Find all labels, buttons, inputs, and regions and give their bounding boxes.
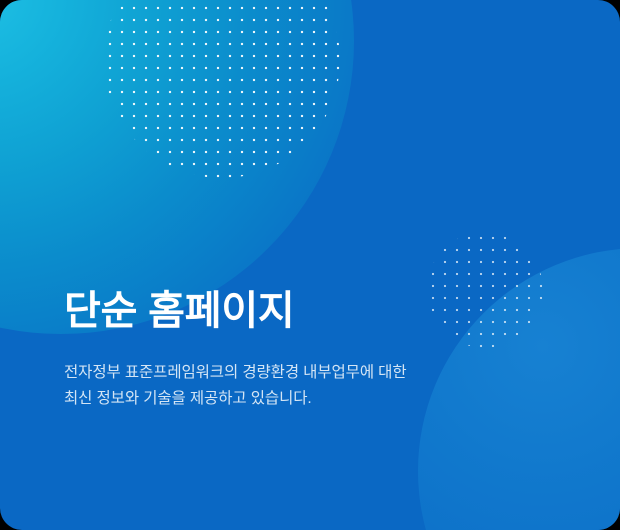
hero-subtitle-line-1: 전자정부 표준프레임워크의 경량환경 내부업무에 대한 — [64, 360, 574, 385]
page-title: 단순 홈페이지 — [64, 288, 574, 334]
dotted-circle-top-icon — [104, 0, 340, 178]
hero-subtitle: 전자정부 표준프레임워크의 경량환경 내부업무에 대한 최신 정보와 기술을 제… — [64, 360, 574, 410]
screenshot-stage: 단순 홈페이지 전자정부 표준프레임워크의 경량환경 내부업무에 대한 최신 정… — [0, 0, 620, 530]
cyan-gradient-circle — [0, 0, 354, 334]
hero-banner-card: 단순 홈페이지 전자정부 표준프레임워크의 경량환경 내부업무에 대한 최신 정… — [0, 0, 620, 530]
hero-content: 단순 홈페이지 전자정부 표준프레임워크의 경량환경 내부업무에 대한 최신 정… — [64, 288, 574, 411]
decorative-background-layer — [0, 0, 620, 530]
hero-subtitle-line-2: 최신 정보와 기술을 제공하고 있습니다. — [64, 386, 574, 411]
